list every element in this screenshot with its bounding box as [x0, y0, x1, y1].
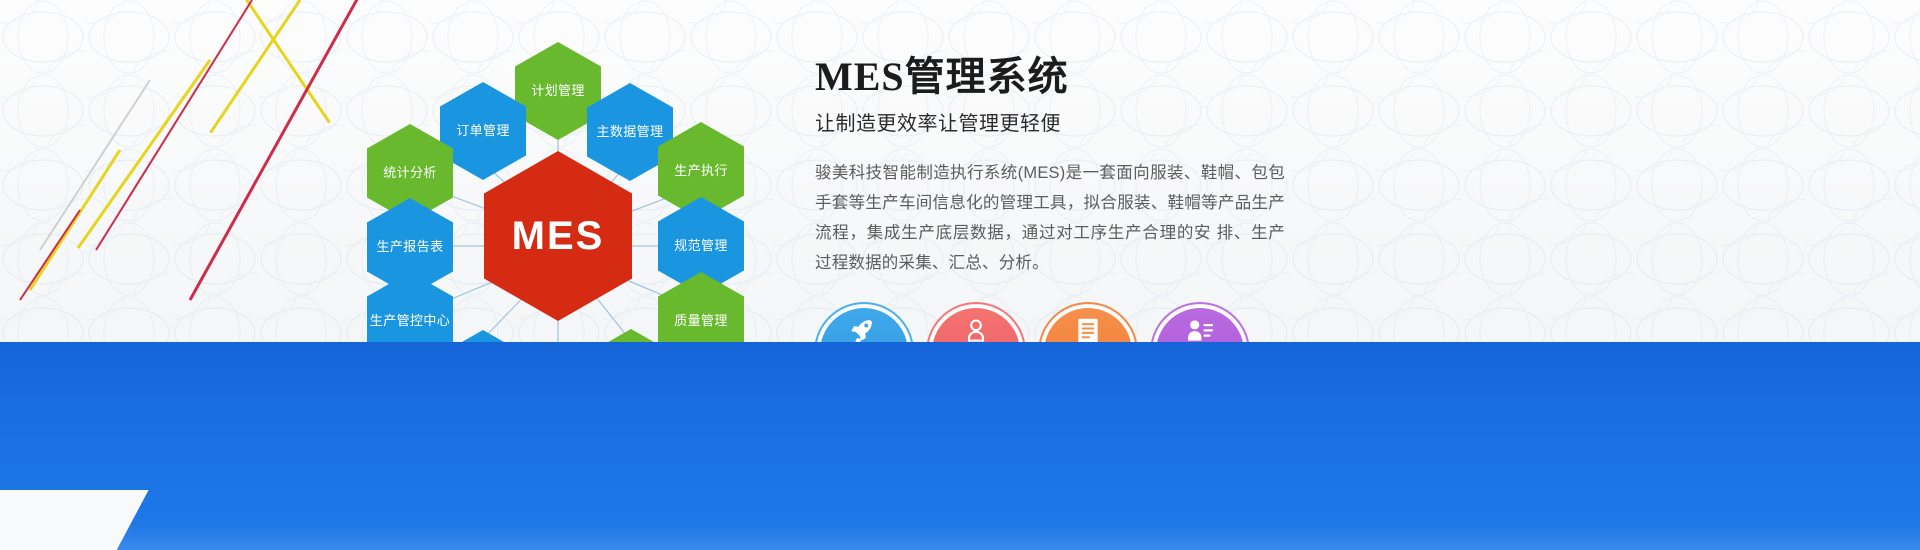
hex-label: 生产执行	[674, 163, 728, 179]
hex-label: 质量管理	[674, 313, 728, 329]
hex-label: 订单管理	[456, 123, 510, 139]
hex-label: 统计分析	[383, 165, 437, 181]
bottom-left-wedge	[0, 490, 149, 550]
background-blue-band	[0, 342, 1920, 550]
hex-label: 主数据管理	[596, 124, 663, 140]
hex-label: 生产报告表	[376, 239, 443, 255]
banner-text-column: MES管理系统 让制造更效率让管理更轻便 骏美科技智能制造执行系统(MES)是一…	[815, 55, 1285, 278]
mes-banner: MES 计划管理 订单管理 主数据管理 统计分析 生产执行 生产报告表 规范管理…	[0, 0, 1920, 550]
page-title: MES管理系统	[815, 55, 1285, 99]
hex-label: 生产管控中心	[370, 313, 450, 329]
description-paragraph: 骏美科技智能制造执行系统(MES)是一套面向服装、鞋帽、包包手套等生产车间信息化…	[815, 158, 1285, 278]
hex-label: 规范管理	[674, 238, 728, 254]
page-subtitle: 让制造更效率让管理更轻便	[815, 107, 1285, 136]
hex-center-label: MES	[512, 211, 605, 261]
hex-label: 计划管理	[531, 83, 585, 99]
